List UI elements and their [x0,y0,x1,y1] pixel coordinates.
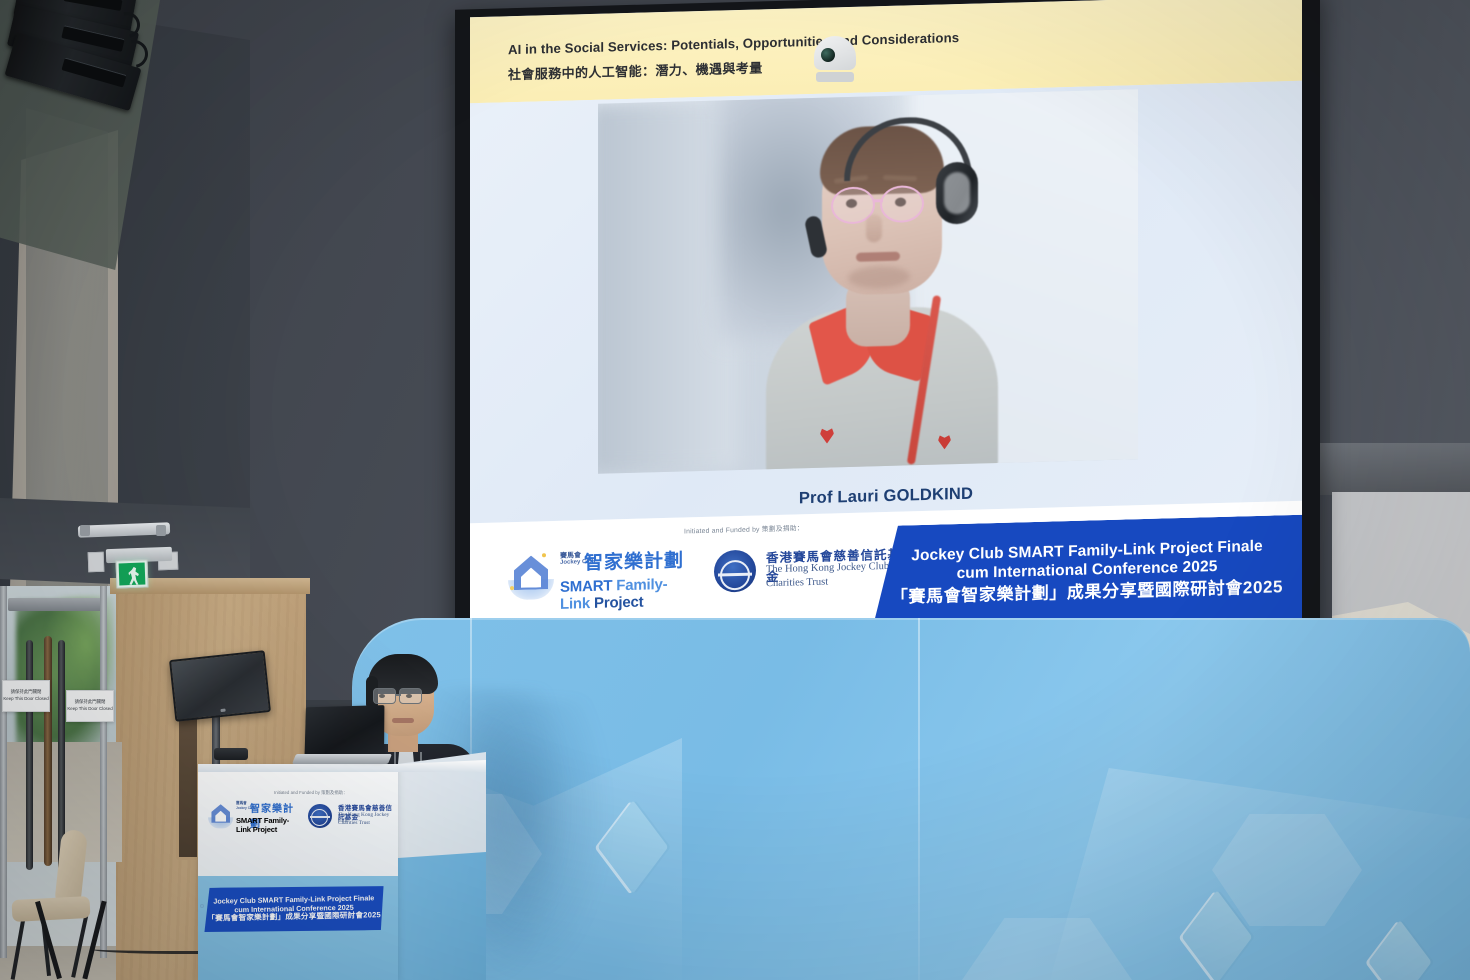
smart-logo-mark-icon [508,551,554,600]
door-sign: 請保持此門關閉 Keep This Door Closed [2,680,50,712]
door-sign-line2: Keep This Door Closed [3,696,48,703]
sparkle-icon [542,553,546,557]
eyeglasses-bridge [874,199,883,202]
project-en-3: Project [594,594,643,612]
speaker-nose [866,214,882,242]
eyeglasses-icon [399,688,422,704]
door-sign-line2: Keep This Door Closed [67,706,112,713]
podium-front-panel: Initiated and Funded by 策劃及捐助： 賽馬會 Jocke… [198,764,398,980]
presenter-mouth [392,718,414,723]
door-handle[interactable] [26,640,33,870]
monitor-led-icon [220,709,225,713]
microphone-base-icon [214,748,248,760]
podium-smart-logo: 賽馬會 Jockey Club 智家樂計劃 SMART Family-Link … [208,800,298,830]
exit-sign [116,559,149,588]
right-wall-ledge [1318,443,1470,495]
line-array-loudspeakers [8,0,168,116]
hkjc-en-line2: Charities Trust [766,577,828,590]
conference-title-banner: Jockey Club SMART Family-Link Project Fi… [872,515,1302,631]
speaker-mouth [856,252,900,262]
projection-screen: AI in the Social Services: Potentials, O… [470,0,1302,647]
headphone-earcup-inner [944,172,970,215]
light-end-cap [80,525,90,536]
emblem-bar [310,816,330,818]
running-person-icon [128,567,142,585]
exit-sign-panel [119,563,146,586]
project-en-label: SMART Family-Link Project [236,816,298,834]
project-en-1: SMART [560,577,616,596]
podium: Initiated and Funded by 策劃及捐助： 賽馬會 Jocke… [198,752,486,980]
podium-funded-label: Initiated and Funded by 策劃及捐助： [274,790,347,796]
podium-accent-dot [200,904,204,908]
door-sign: 請保持此門關閉 Keep This Door Closed [66,690,114,722]
presenter-cast-shadow [470,700,610,980]
door-handle[interactable] [44,636,52,866]
smart-logo-mark-icon [208,802,233,828]
laptop-base[interactable] [292,754,392,764]
backdrop-seam [918,618,920,980]
eyeglasses-bridge [396,694,401,696]
camera-lens-icon [821,48,835,62]
wall-plate [88,552,105,573]
door-sign-line1: 請保持此門關閉 [11,689,42,696]
smart-family-link-logo: 賽馬會 Jockey Club 智家樂計劃 SMART Family-Link … [508,545,688,608]
chair-seat [11,896,90,922]
right-wall-plane [1330,0,1470,450]
camera-base [816,72,854,82]
door-sign-line1: 請保持此門關閉 [75,699,106,706]
hkjc-emblem-icon [308,804,332,828]
project-zh-label: 智家樂計劃 [584,545,684,575]
conference-banner-line3: 「賽馬會智家樂計劃」成果分享暨國際研討會2025 [891,577,1283,608]
slide-body: Prof Lauri GOLDKIND Lauri GOLDKIND 教授 Pr… [470,81,1302,524]
funded-by-label: Initiated and Funded by 策劃及捐助： [684,522,804,535]
eyeglasses-icon [373,688,396,704]
remote-speaker-video [598,89,1138,474]
ptz-camera-icon [812,36,858,82]
laptop-screen[interactable] [305,705,385,759]
podium-conference-banner: Jockey Club SMART Family-Link Project Fi… [204,884,385,934]
hkjc-en-line2: Charities Trust [338,820,370,826]
conference-hall-scene: AI in the Social Services: Potentials, O… [0,0,1470,980]
door-frame [0,586,7,958]
podium-hkjc-logo: 香港賽馬會慈善信託基金 The Hong Kong Jockey Club Ch… [308,802,396,832]
hkjc-emblem-icon [714,550,756,593]
project-en-label: SMART Family-Link Project [560,575,688,612]
podium-side-lower [398,852,486,980]
wall-monitor [169,650,271,722]
video-background [598,100,738,474]
light-end-cap [156,525,166,536]
door-closer [8,598,104,611]
podium-banner-line3: 「賽馬會智家樂計劃」成果分享暨國際研討會2025 [207,911,381,924]
